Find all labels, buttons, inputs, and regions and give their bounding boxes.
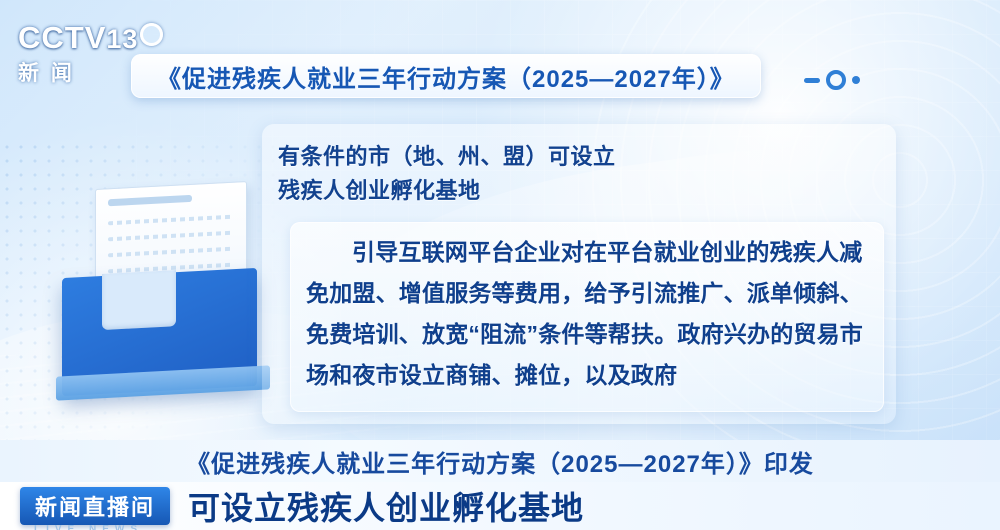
title-banner: 《促进残疾人就业三年行动方案（2025—2027年）》 — [131, 54, 761, 98]
document-page-title-bar — [108, 195, 192, 206]
cctv-logo-wordmark: CCTV13 — [18, 22, 188, 55]
lower-third-subtitle-bar: 《促进残疾人就业三年行动方案（2025—2027年）》印发 — [0, 440, 1000, 482]
lower-third-headline-text: 可设立残疾人创业孵化基地 — [188, 483, 584, 529]
content-card-heading: 有条件的市（地、州、盟）可设立 残疾人创业孵化基地 — [278, 140, 838, 208]
cctv-logo-ring-icon — [140, 23, 163, 46]
content-card-body: 引导互联网平台企业对在平台就业创业的残疾人减免加盟、增值服务等费用，给予引流推广… — [290, 222, 884, 412]
cctv-logo-letters: CCTV — [18, 20, 106, 55]
decoration-ring-icon — [826, 70, 846, 90]
decoration-dot-icon — [852, 76, 860, 84]
cctv-logo-channel-number: 13 — [106, 24, 138, 54]
title-banner-decoration — [804, 70, 860, 90]
title-banner-text: 《促进残疾人就业三年行动方案（2025—2027年）》 — [157, 59, 735, 94]
program-badge: 新闻直播间 — [20, 487, 170, 525]
program-badge-text: 新闻直播间 — [35, 490, 155, 522]
program-badge-subtext: LIVE NEWS — [34, 524, 143, 530]
broadcast-frame: CCTV13 新 闻 《促进残疾人就业三年行动方案（2025—2027年）》 — [0, 0, 1000, 530]
lower-third-subtitle-text: 《促进残疾人就业三年行动方案（2025—2027年）》印发 — [186, 444, 814, 479]
content-card-paragraph: 引导互联网平台企业对在平台就业创业的残疾人减免加盟、增值服务等费用，给予引流推广… — [290, 222, 884, 396]
folder-notch — [102, 270, 176, 330]
decoration-bar — [804, 78, 820, 83]
